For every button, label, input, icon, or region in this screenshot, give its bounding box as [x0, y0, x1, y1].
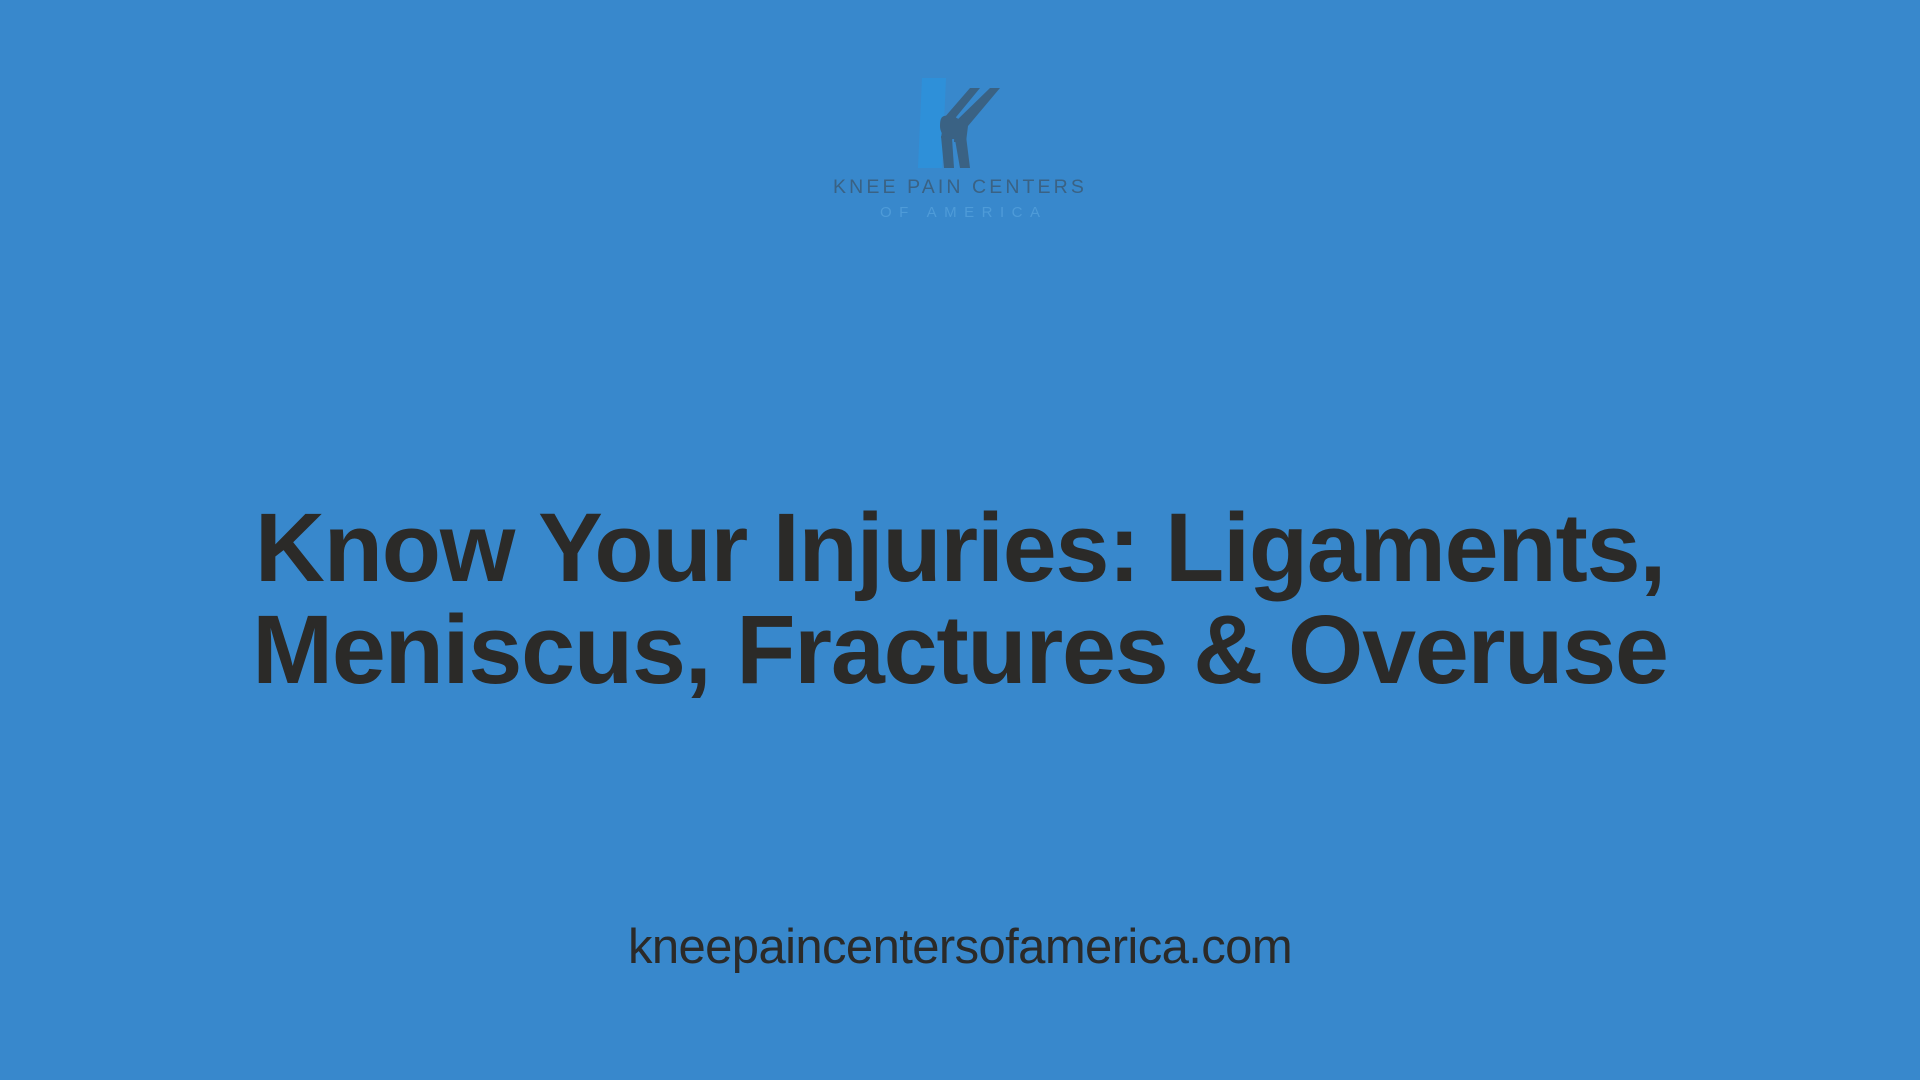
website-url: kneepaincentersofamerica.com	[0, 918, 1920, 976]
knee-joint-k-monogram-icon	[908, 72, 1012, 172]
page-title: Know Your Injuries: Ligaments, Meniscus,…	[0, 497, 1920, 701]
page-title-line-2: Meniscus, Fractures & Overuse	[110, 599, 1810, 701]
logo-subwordmark: OF AMERICA	[872, 205, 1047, 220]
logo-wordmark: KNEE PAIN CENTERS	[833, 178, 1087, 198]
page-title-line-1: Know Your Injuries: Ligaments,	[110, 497, 1810, 599]
brand-logo: KNEE PAIN CENTERS OF AMERICA	[0, 72, 1920, 220]
title-slide: KNEE PAIN CENTERS OF AMERICA Know Your I…	[0, 0, 1920, 1080]
